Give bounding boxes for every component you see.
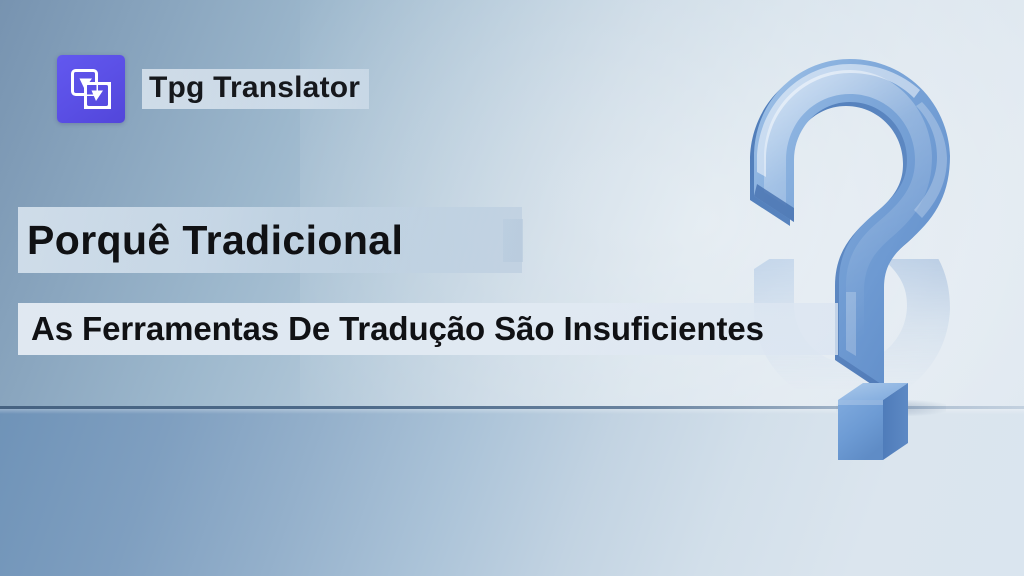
question-mark-3d-icon — [726, 56, 976, 456]
slide-canvas: Tpg Translator Porquê Tradicional As Fer… — [0, 0, 1024, 576]
page-title: Porquê Tradicional — [18, 217, 403, 264]
brand-name: Tpg Translator — [142, 69, 369, 109]
headline-plate: Porquê Tradicional — [18, 207, 522, 273]
page-subtitle: As Ferramentas De Tradução São Insuficie… — [18, 310, 764, 348]
subheadline-plate: As Ferramentas De Tradução São Insuficie… — [18, 303, 838, 355]
brand-logo-row[interactable]: Tpg Translator — [57, 55, 369, 123]
translate-swap-icon[interactable] — [57, 55, 125, 123]
